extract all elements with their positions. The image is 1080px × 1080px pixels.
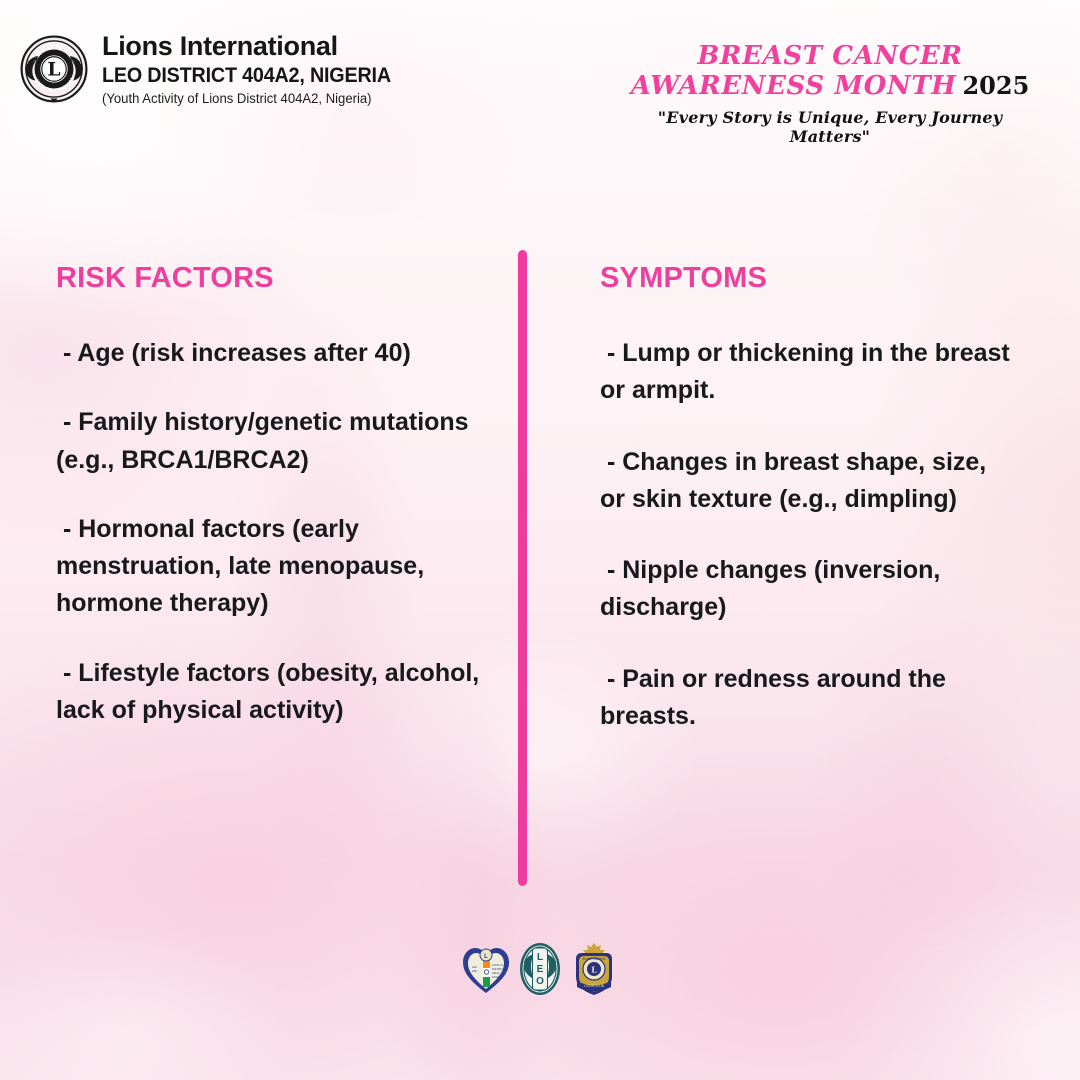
brand-block: L LIONS INTERNATIONAL Lions Internationa… xyxy=(18,33,409,106)
svg-text:LIONS CLUB: LIONS CLUB xyxy=(584,984,605,988)
svg-text:LIONS CLUBS: LIONS CLUBS xyxy=(492,963,509,967)
district-subtitle: (Youth Activity of Lions District 404A2,… xyxy=(102,92,400,106)
symptom-item: - Changes in breast shape, size, or skin… xyxy=(600,444,1018,519)
lions-club-gold-crest-icon: L LIONS CLUB 404A2 NIGERIA xyxy=(569,941,619,1002)
svg-text:NIGERIA: NIGERIA xyxy=(492,975,503,979)
leo-district-heart-logo-icon: L LIONS CLUBS DISTRICT 404A2 NIGERIA LEO… xyxy=(461,942,511,1001)
poster-header: L LIONS INTERNATIONAL Lions Internationa… xyxy=(0,0,1080,140)
risk-factor-item: - Age (risk increases after 40) xyxy=(56,335,496,372)
campaign-line-2: AWARENESS MONTH xyxy=(631,72,957,101)
leo-club-badge-icon: L E O xyxy=(519,942,561,1001)
risk-factor-item: - Lifestyle factors (obesity, alcohol, l… xyxy=(56,655,496,730)
risk-factors-title: RISK FACTORS xyxy=(56,262,496,295)
svg-text:DISTRICT: DISTRICT xyxy=(492,967,504,971)
svg-text:L: L xyxy=(537,952,543,963)
symptoms-title: SYMPTOMS xyxy=(600,262,1018,295)
symptoms-column: SYMPTOMS - Lump or thickening in the bre… xyxy=(600,262,1018,769)
campaign-title-block: BREAST CANCER AWARENESS MONTH 2025 "Ever… xyxy=(620,42,1040,146)
svg-text:L: L xyxy=(591,964,597,974)
footer-logo-strip: L LIONS CLUBS DISTRICT 404A2 NIGERIA LEO… xyxy=(0,938,1080,1004)
campaign-tagline: "Every Story is Unique, Every Journey Ma… xyxy=(620,108,1040,146)
poster-canvas: L LIONS INTERNATIONAL Lions Internationa… xyxy=(0,0,1080,1080)
svg-text:O: O xyxy=(536,976,544,987)
svg-text:404A2 NIGERIA: 404A2 NIGERIA xyxy=(582,957,606,961)
symptom-item: - Nipple changes (inversion, discharge) xyxy=(600,552,1018,627)
campaign-line-1: BREAST CANCER xyxy=(620,42,1040,71)
lions-international-emblem-icon: L LIONS INTERNATIONAL xyxy=(18,33,90,105)
risk-factors-list: - Age (risk increases after 40) - Family… xyxy=(56,335,496,729)
svg-text:L: L xyxy=(484,954,488,960)
symptoms-list: - Lump or thickening in the breast or ar… xyxy=(600,335,1018,735)
svg-text:E: E xyxy=(537,964,544,975)
brand-text-block: Lions International LEO DISTRICT 404A2, … xyxy=(102,33,409,106)
symptom-item: - Pain or redness around the breasts. xyxy=(600,661,1018,736)
svg-text:DIST: DIST xyxy=(472,970,478,973)
district-name: LEO DISTRICT 404A2, NIGERIA xyxy=(102,65,391,86)
svg-text:L: L xyxy=(47,59,60,81)
svg-text:404A2: 404A2 xyxy=(492,971,500,975)
risk-factor-item: - Family history/genetic mutations (e.g.… xyxy=(56,404,496,479)
svg-text:LEO: LEO xyxy=(472,966,477,969)
content-columns: RISK FACTORS - Age (risk increases after… xyxy=(0,262,1080,902)
risk-factors-column: RISK FACTORS - Age (risk increases after… xyxy=(56,262,496,761)
symptom-item: - Lump or thickening in the breast or ar… xyxy=(600,335,1018,410)
organization-name: Lions International xyxy=(102,33,409,60)
campaign-year: 2025 xyxy=(962,73,1029,100)
campaign-line-2-row: AWARENESS MONTH 2025 xyxy=(620,72,1040,101)
risk-factor-item: - Hormonal factors (early menstruation, … xyxy=(56,511,496,623)
